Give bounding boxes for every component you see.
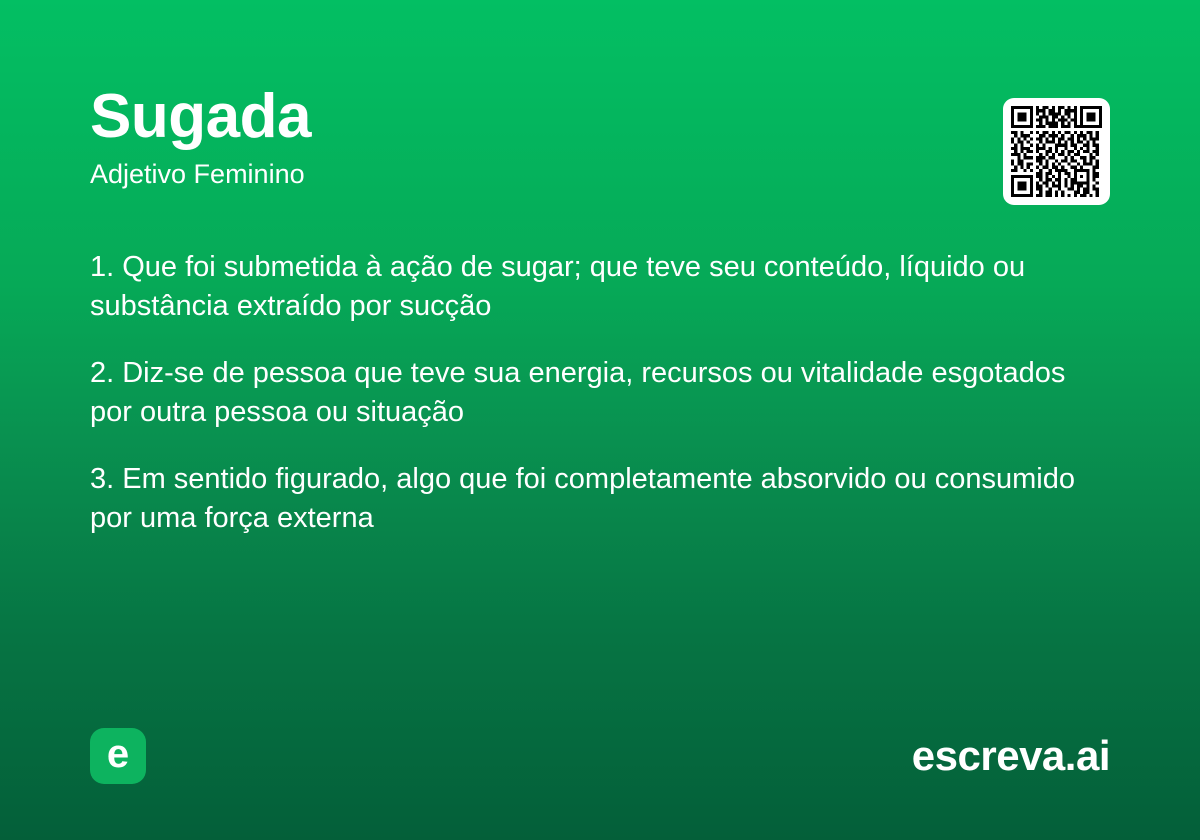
escreva-logo-icon: e [90, 728, 146, 784]
definition-item: 2. Diz-se de pessoa que teve sua energia… [90, 354, 1110, 432]
definition-item: 3. Em sentido figurado, algo que foi com… [90, 460, 1110, 538]
card-footer: e escreva.ai [0, 728, 1200, 784]
definitions-list: 1. Que foi submetida à ação de sugar; qu… [90, 248, 1110, 538]
card-header: Sugada Adjetivo Feminino [90, 86, 970, 190]
qr-code-icon [1011, 106, 1102, 197]
definition-item: 1. Que foi submetida à ação de sugar; qu… [90, 248, 1110, 326]
page-title: Sugada [90, 86, 970, 148]
definition-card: Sugada Adjetivo Feminino [0, 0, 1200, 840]
brand-name: escreva.ai [912, 732, 1110, 780]
word-class-label: Adjetivo Feminino [90, 160, 970, 190]
qr-code-panel[interactable] [1003, 98, 1110, 205]
